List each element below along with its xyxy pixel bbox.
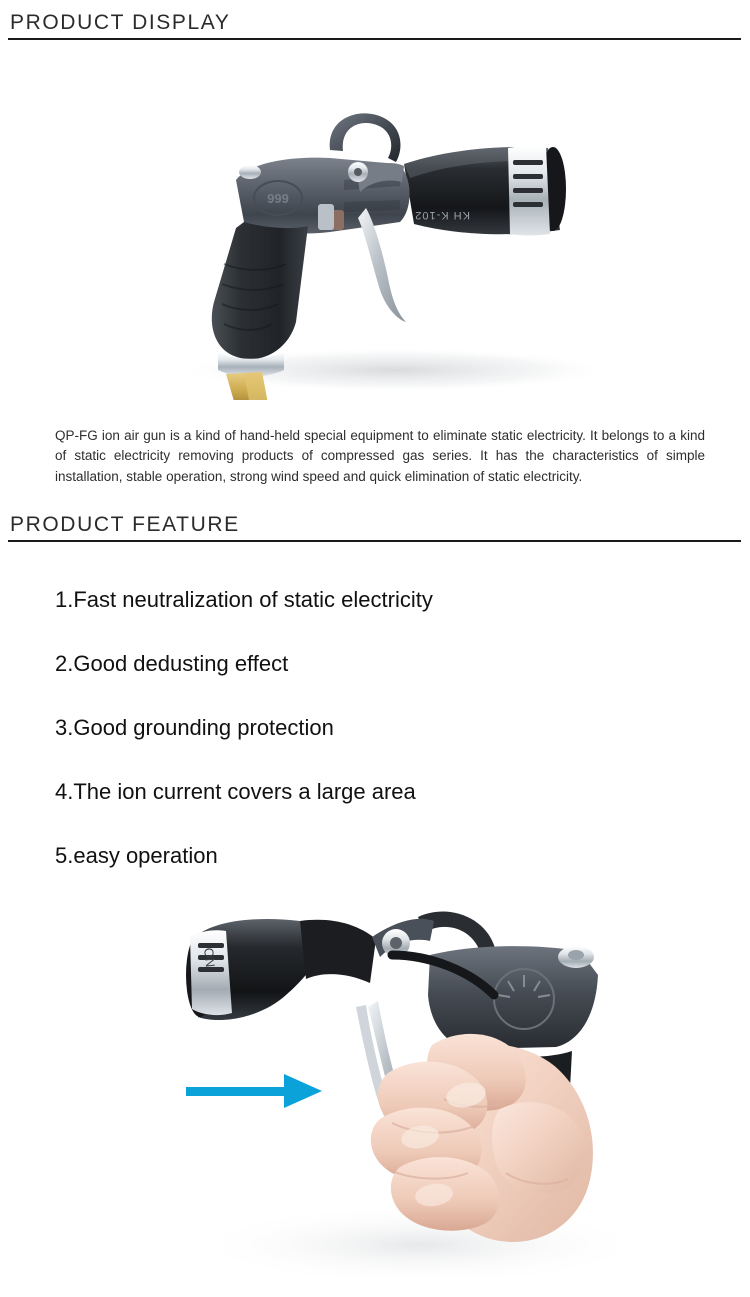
usage-barrel-label: NO: [201, 947, 218, 968]
usage-silver-band: [190, 930, 232, 1015]
trigger: [358, 208, 406, 322]
list-item: 3.Good grounding protection: [55, 713, 675, 777]
ion-air-gun-illustration: KH K-102 999: [0, 52, 750, 400]
feature-label: easy operation: [73, 843, 217, 868]
feature-label: Good dedusting effect: [73, 651, 288, 676]
feature-label: The ion current covers a large area: [73, 779, 415, 804]
product-hero-image: KH K-102 999: [0, 52, 750, 400]
pointer-arrow: [186, 1074, 322, 1108]
top-screw: [239, 165, 261, 179]
section-heading-display: PRODUCT DISPLAY: [0, 8, 750, 40]
page-title-product-feature: PRODUCT FEATURE: [0, 510, 750, 540]
arrow-head-icon: [284, 1074, 322, 1108]
list-item: 4.The ion current covers a large area: [55, 777, 675, 841]
barrel-label-text: KH K-102: [414, 209, 470, 221]
product-usage-image: NO: [0, 895, 750, 1297]
feature-list: 1.Fast neutralization of static electric…: [55, 585, 675, 905]
product-display-page: PRODUCT DISPLAY: [0, 0, 750, 1297]
feature-number: 5.: [55, 843, 73, 868]
feature-number: 4.: [55, 779, 73, 804]
heading-rule-display: [8, 38, 741, 40]
list-item: 2.Good dedusting effect: [55, 649, 675, 713]
feature-number: 2.: [55, 651, 73, 676]
valve-stem: [318, 204, 334, 230]
product-description: QP-FG ion air gun is a kind of hand-held…: [55, 426, 705, 488]
emblem-999-text: 999: [267, 191, 289, 206]
usage-neck: [300, 920, 376, 983]
heading-rule-feature: [8, 540, 741, 542]
feature-number: 3.: [55, 715, 73, 740]
hand-holding-gun-illustration: NO: [0, 895, 750, 1297]
section-heading-feature: PRODUCT FEATURE: [0, 510, 750, 542]
arrow-shaft: [186, 1087, 288, 1096]
feature-number: 1.: [55, 587, 73, 612]
feature-label: Fast neutralization of static electricit…: [73, 587, 432, 612]
hook-icon: [330, 113, 401, 162]
feature-label: Good grounding protection: [73, 715, 334, 740]
page-title-product-display: PRODUCT DISPLAY: [0, 8, 750, 38]
list-item: 1.Fast neutralization of static electric…: [55, 585, 675, 649]
